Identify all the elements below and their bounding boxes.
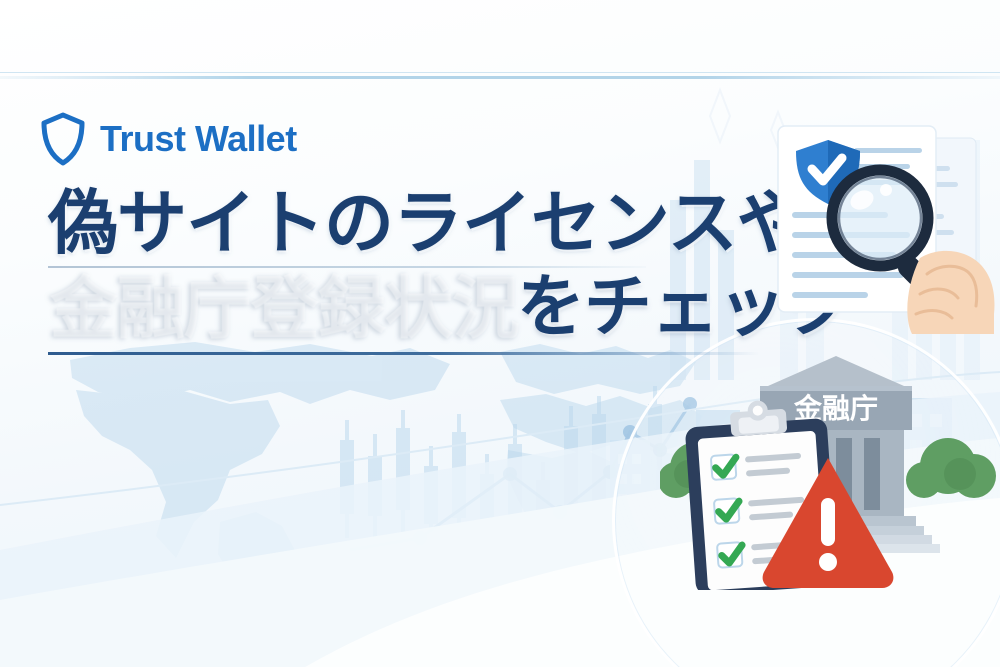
top-divider-thin [0, 72, 1000, 73]
top-divider [0, 76, 1000, 79]
headline-line-2-gold: 金融庁登録状況 [48, 268, 517, 347]
world-map-icon [0, 330, 740, 667]
headline-line-2: 金融庁登録状況をチェック [48, 274, 808, 342]
agency-checklist-illustration: 金融庁 [660, 340, 1000, 590]
document-review-illustration [744, 108, 1000, 334]
brand-logo: Trust Wallet [40, 112, 297, 166]
headline-block: 偽サイトのライセンスや 金融庁登録状況をチェック [48, 188, 808, 355]
brand-name: Trust Wallet [100, 118, 297, 160]
headline-divider-2 [48, 352, 760, 355]
hero-banner: Trust Wallet 偽サイトのライセンスや 金融庁登録状況をチェック [0, 0, 1000, 667]
hand-icon [907, 251, 994, 334]
headline-line-1: 偽サイトのライセンスや [48, 188, 808, 258]
shield-icon [40, 112, 86, 166]
